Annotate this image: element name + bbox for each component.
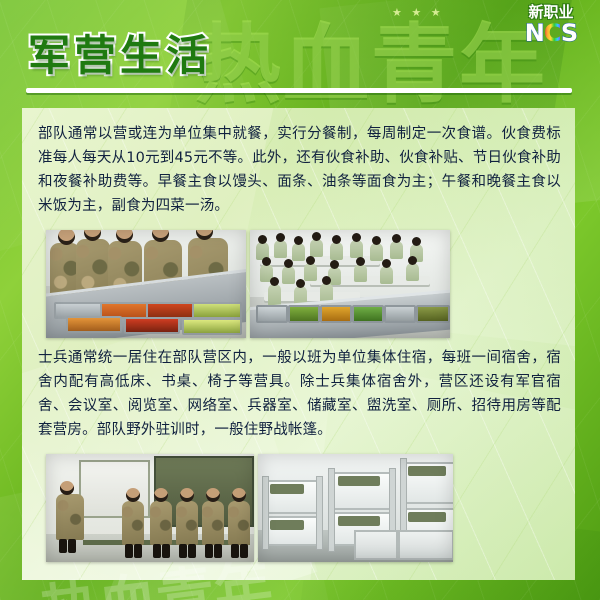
logo-letter-c: C [544,19,561,47]
poster-page: 热血青年 ★ ★ ★ 军营生活 新职业 NCS 部队通常以营或连为单位集中就餐，… [0,0,600,600]
header-banner: 热血青年 ★ ★ ★ 军营生活 新职业 NCS [0,0,600,108]
photo-dormitory-bunk-beds[interactable] [258,454,453,562]
logo-letter-n: N [525,19,544,47]
logo-letter-s: S [561,19,577,47]
paragraph-dining: 部队通常以营或连为单位集中就餐，实行分餐制，每周制定一次食谱。伙食费标准每人每天… [38,108,561,218]
brand-logo[interactable]: 新职业 NCS [512,4,590,54]
paragraph-housing: 士兵通常统一居住在部队营区内，一般以班为单位集体住宿，每班一间宿舍，宿舍内配有高… [38,338,561,442]
header-divider [26,88,572,93]
photo-mess-hall-dining[interactable] [250,230,450,338]
content-panel: 部队通常以营或连为单位集中就餐，实行分餐制，每周制定一次食谱。伙食费标准每人每天… [22,108,575,580]
page-title: 军营生活 [28,22,212,83]
photo-row-dining [46,230,575,338]
photo-row-barracks [46,454,575,562]
photo-barracks-briefing[interactable] [46,454,254,562]
stars-decoration: ★ ★ ★ [392,6,444,19]
brand-logo-ncs: NCS [512,21,590,45]
photo-soldiers-serving-food[interactable] [46,230,246,338]
